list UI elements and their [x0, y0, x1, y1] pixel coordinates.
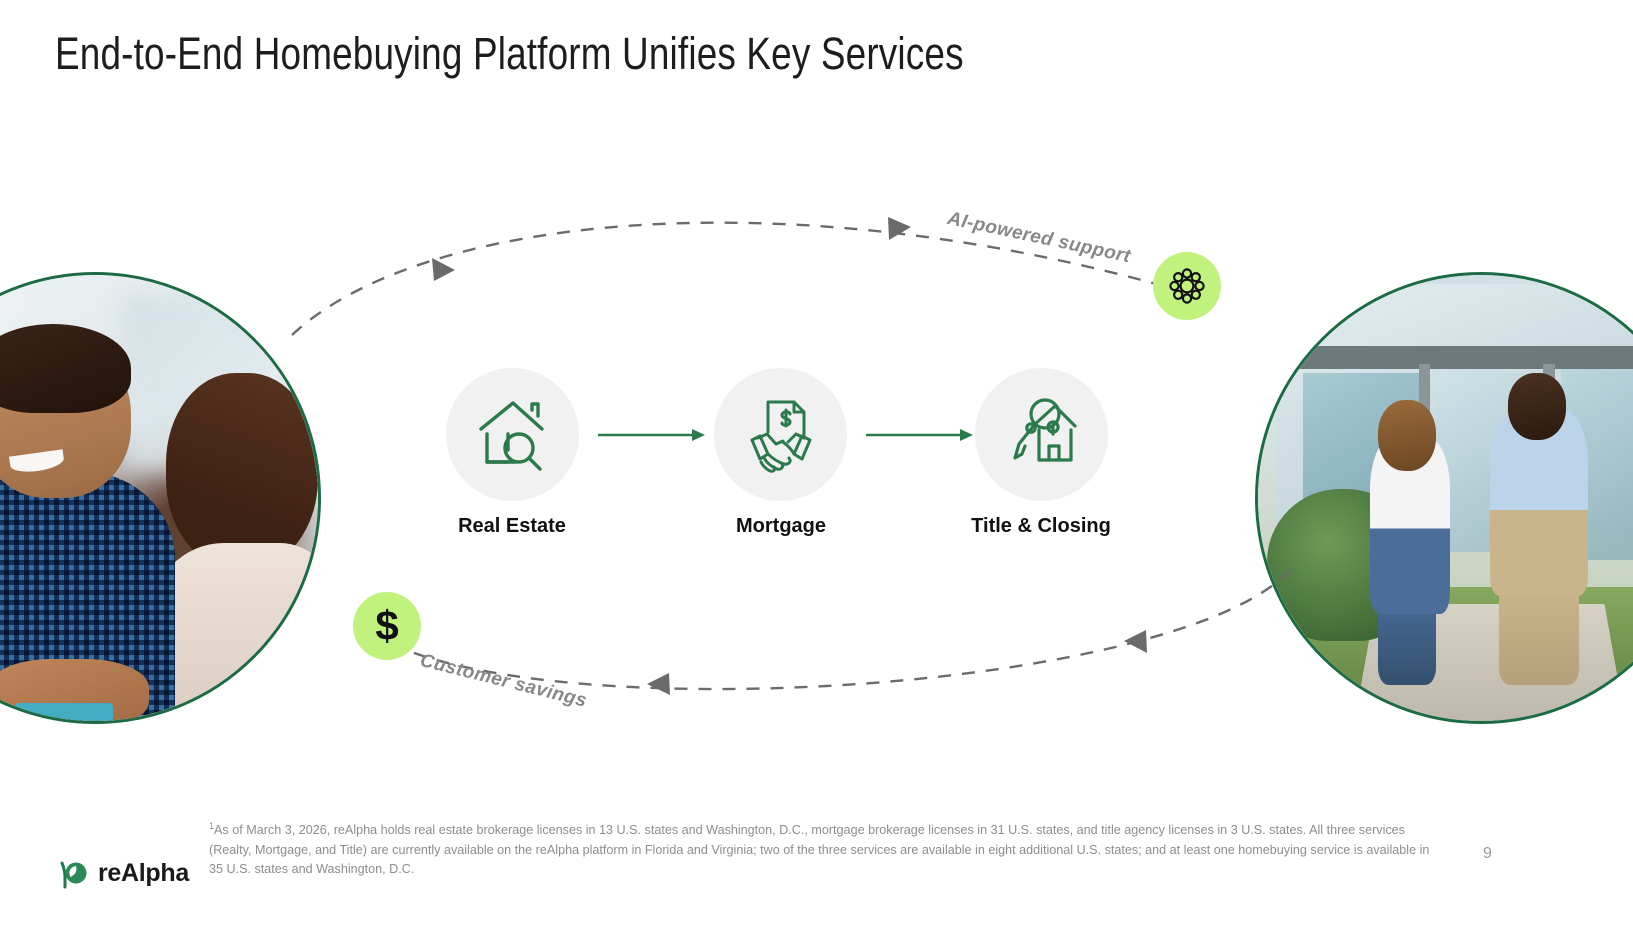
slide-root: End-to-End Homebuying Platform Unifies K… — [0, 0, 1633, 943]
realpha-logo: reAlpha — [57, 857, 189, 890]
page-number: 9 — [1483, 845, 1492, 863]
client-head — [166, 373, 318, 569]
footnote: 1As of March 3, 2026, reAlpha holds real… — [209, 820, 1444, 880]
arrow-right-icon-1 — [598, 424, 708, 446]
house-roofline — [1267, 346, 1633, 368]
loop-arc-bottom — [383, 570, 1290, 689]
ai-support-badge[interactable] — [1153, 252, 1221, 320]
customer-savings-badge[interactable]: $ — [353, 592, 421, 660]
dollar-sign-icon: $ — [375, 605, 398, 647]
logo-wordmark: reAlpha — [98, 859, 189, 888]
loop-arrowhead-top-right — [888, 217, 911, 240]
man-hair — [1508, 373, 1566, 440]
loop-arrowhead-bottom-right — [1124, 630, 1147, 653]
realpha-leaf-mark-icon — [57, 857, 90, 890]
photo-right-inner — [1258, 275, 1633, 721]
loop-arrowhead-bottom-left — [647, 673, 670, 695]
photo-circle-right — [1255, 272, 1633, 724]
loop-label-ai-support: AI-powered support — [945, 208, 1132, 268]
house-search-icon — [470, 392, 556, 478]
photo-circle-left — [0, 272, 321, 724]
arrow-right-icon-2 — [866, 424, 976, 446]
footnote-text: As of March 3, 2026, reAlpha holds real … — [209, 823, 1429, 876]
flow-label-real-estate: Real Estate — [458, 515, 566, 538]
flow-node-mortgage[interactable] — [714, 368, 847, 501]
flow-label-mortgage: Mortgage — [736, 515, 826, 538]
loop-label-customer-savings: Customer savings — [418, 650, 589, 713]
photo-left-inner — [0, 275, 318, 721]
flow-label-title-closing: Title & Closing — [971, 515, 1111, 538]
flow-node-title-closing[interactable] — [975, 368, 1108, 501]
flow-node-real-estate[interactable] — [446, 368, 579, 501]
woman-hair — [1378, 400, 1436, 471]
ai-star-burst-icon — [1165, 264, 1209, 308]
page-title: End-to-End Homebuying Platform Unifies K… — [55, 28, 964, 80]
loop-arrowhead-top-left — [432, 258, 455, 281]
handshake-dollar-document-icon — [738, 392, 824, 478]
house-keys-icon — [999, 392, 1085, 478]
blue-folder — [15, 703, 113, 721]
